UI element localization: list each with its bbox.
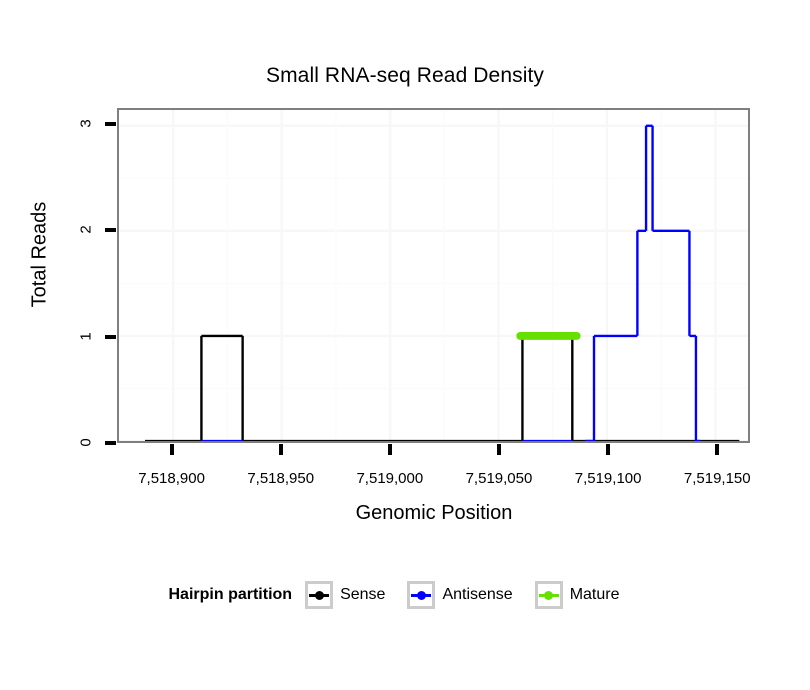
legend-key-icon xyxy=(407,581,435,609)
chart-legend: Hairpin partition SenseAntisenseMature xyxy=(0,581,810,609)
y-tick-mark xyxy=(105,441,116,445)
data-series-layer xyxy=(119,110,748,441)
legend-label: Mature xyxy=(570,586,620,604)
x-tick-label: 7,519,000 xyxy=(330,470,450,487)
x-tick-mark xyxy=(715,444,719,455)
x-tick-label: 7,519,100 xyxy=(548,470,668,487)
y-tick-mark xyxy=(105,228,116,232)
y-tick-mark xyxy=(105,122,116,126)
legend-key-dot-icon xyxy=(544,591,553,600)
legend-key-icon xyxy=(535,581,563,609)
y-tick-label: 3 xyxy=(78,111,95,135)
legend-entry-sense[interactable]: Sense xyxy=(305,581,399,609)
x-axis-title: Genomic Position xyxy=(118,502,750,525)
chart-title: Small RNA-seq Read Density xyxy=(0,64,810,88)
x-tick-mark xyxy=(606,444,610,455)
legend-entry-antisense[interactable]: Antisense xyxy=(407,581,526,609)
series-sense xyxy=(145,336,739,441)
y-axis-title: Total Reads xyxy=(29,170,52,340)
legend-label: Sense xyxy=(340,586,385,604)
x-tick-mark xyxy=(388,444,392,455)
x-tick-label: 7,519,050 xyxy=(439,470,559,487)
legend-label: Antisense xyxy=(442,586,512,604)
x-tick-mark xyxy=(170,444,174,455)
x-tick-label: 7,518,900 xyxy=(112,470,232,487)
y-tick-label: 0 xyxy=(78,431,95,455)
y-tick-label: 2 xyxy=(78,218,95,242)
legend-entry-mature[interactable]: Mature xyxy=(535,581,634,609)
y-tick-label: 1 xyxy=(78,324,95,348)
legend-key-dot-icon xyxy=(417,591,426,600)
legend-key-dot-icon xyxy=(315,591,324,600)
legend-title: Hairpin partition xyxy=(169,586,293,604)
y-tick-mark xyxy=(105,335,116,339)
x-tick-mark xyxy=(279,444,283,455)
x-tick-mark xyxy=(497,444,501,455)
series-antisense xyxy=(201,126,700,441)
plot-panel xyxy=(117,108,750,443)
x-tick-label: 7,518,950 xyxy=(221,470,341,487)
chart-root: Small RNA-seq Read Density Total Reads G… xyxy=(0,0,810,690)
legend-key-icon xyxy=(305,581,333,609)
x-tick-label: 7,519,150 xyxy=(657,470,777,487)
